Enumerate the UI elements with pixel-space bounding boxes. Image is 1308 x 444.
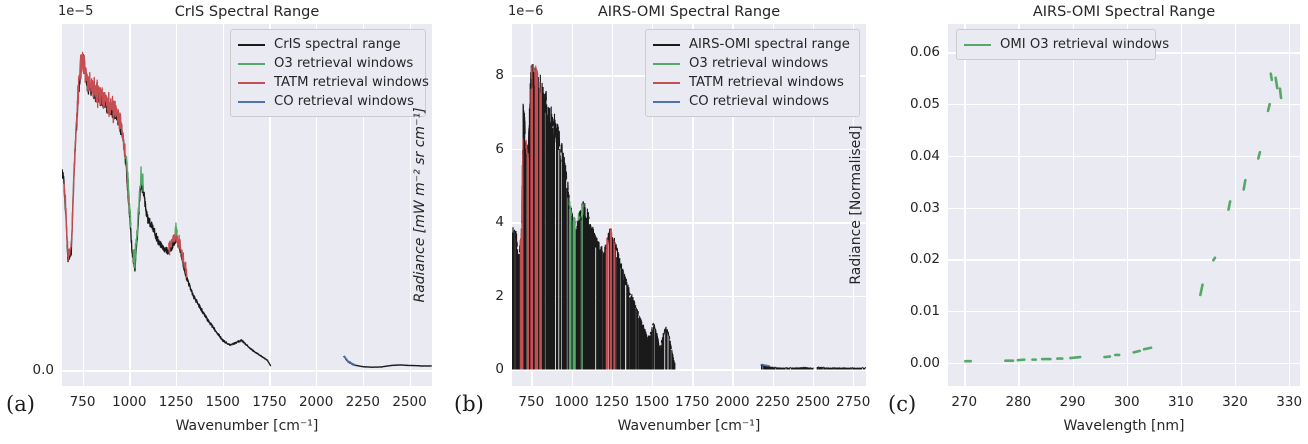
y-tick-label: 0.00 — [886, 355, 940, 371]
data-segment — [1213, 258, 1215, 261]
data-segment — [1105, 357, 1110, 358]
y-tick-label: 0.06 — [886, 44, 940, 60]
x-tick-label: 310 — [1168, 394, 1194, 410]
data-segment — [1268, 104, 1270, 111]
data-segment — [1144, 348, 1151, 350]
data-segment — [1018, 360, 1024, 361]
x-tick-label: 270 — [951, 394, 977, 410]
series-canvas-c — [948, 24, 1300, 386]
x-tick-label: 300 — [1114, 394, 1140, 410]
panel-letter-c: (c) — [888, 392, 916, 416]
data-segment — [1134, 351, 1140, 353]
figure-spectral-ranges: CrIS Spectral Range1e−50.00.20.40.60.81.… — [0, 0, 1308, 444]
legend-color-swatch — [964, 44, 991, 46]
y-tick-label: 0.04 — [886, 148, 940, 164]
data-segment — [1271, 74, 1272, 80]
y-tick-label: 0.01 — [886, 303, 940, 319]
y-tick-label: 0.03 — [886, 200, 940, 216]
data-segment — [1258, 152, 1260, 158]
x-axis-label-c: Wavelength [nm] — [948, 418, 1300, 434]
data-segment — [1070, 357, 1080, 358]
data-segment — [1276, 78, 1278, 88]
x-tick-label: 330 — [1276, 394, 1302, 410]
data-segment — [1244, 180, 1246, 189]
data-segment — [1280, 89, 1281, 98]
x-tick-label: 280 — [1006, 394, 1032, 410]
legend-label: OMI O3 retrieval windows — [1000, 38, 1169, 51]
x-tick-label: 320 — [1222, 394, 1248, 410]
y-axis-label-c: Radiance [Normalised] — [848, 125, 864, 284]
data-segment — [1229, 201, 1231, 209]
y-tick-label: 0.02 — [886, 251, 940, 267]
legend-item: OMI O3 retrieval windows — [964, 35, 1147, 54]
y-tick-label: 0.05 — [886, 96, 940, 112]
panel-title-c: AIRS-OMI Spectral Range — [948, 4, 1300, 20]
plot-area-c — [948, 24, 1300, 386]
data-segment — [1200, 285, 1202, 295]
legend-c: OMI O3 retrieval windows — [956, 29, 1156, 60]
panel-c: AIRS-OMI Spectral Range0.000.010.020.030… — [0, 0, 1308, 444]
x-tick-label: 290 — [1060, 394, 1086, 410]
